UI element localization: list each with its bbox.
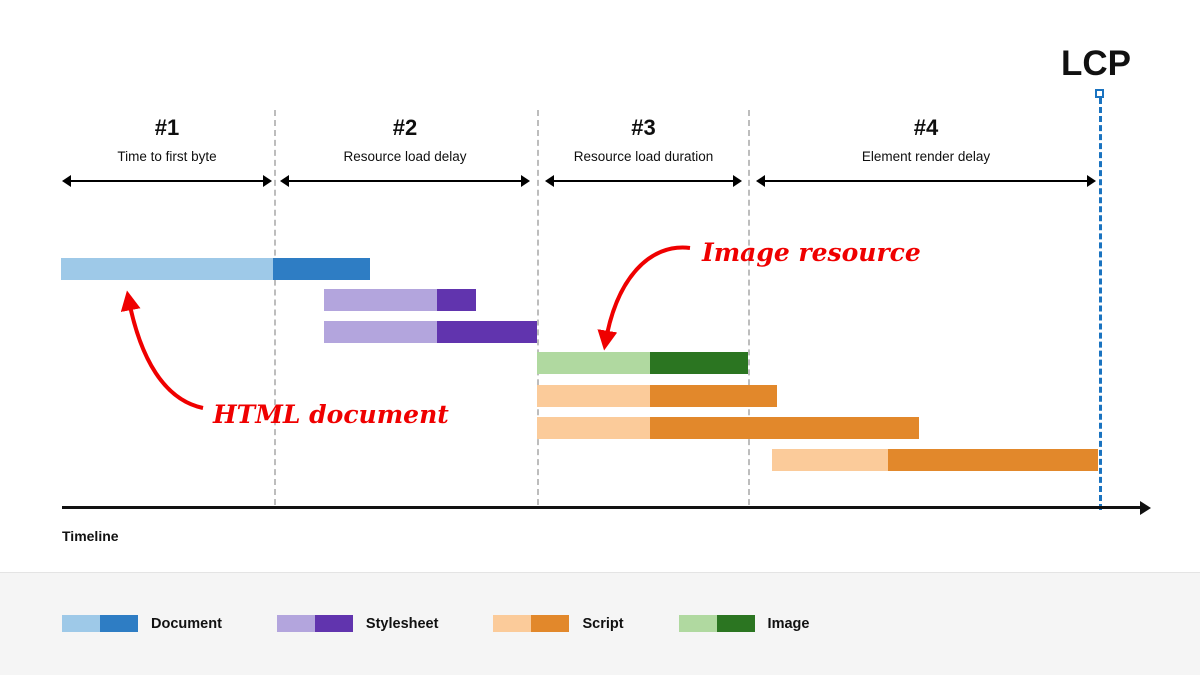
arrow-right-icon — [521, 175, 530, 187]
arrow-shaft — [762, 180, 1090, 182]
phase-number: #3 — [545, 115, 742, 141]
annotation-html-document-text: HTML document — [213, 400, 449, 429]
timeline-axis — [62, 506, 1140, 509]
script-bar-3-queue-segment — [772, 449, 888, 471]
lcp-marker-line — [1099, 98, 1102, 510]
phase-name: Time to first byte — [62, 147, 272, 167]
annotation-image-resource-text: Image resource — [702, 238, 921, 267]
legend-label: Script — [582, 616, 623, 632]
stylesheet-bar-2[interactable] — [324, 321, 537, 343]
arrow-shaft — [286, 180, 524, 182]
script-bar-3-download-segment — [888, 449, 1098, 471]
image-bar-queue-segment — [537, 352, 650, 374]
lcp-label: LCP — [1061, 44, 1131, 84]
legend-item-image[interactable]: Image — [679, 615, 810, 632]
phase-span-arrow-1 — [62, 174, 272, 188]
script-bar-1-queue-segment — [537, 385, 650, 407]
phase-name: Resource load delay — [280, 147, 530, 167]
document-bar[interactable] — [61, 258, 370, 280]
phase-number: #2 — [280, 115, 530, 141]
phase-span-arrow-2 — [280, 174, 530, 188]
script-bar-2-queue-segment — [537, 417, 650, 439]
legend-swatch-dark — [315, 615, 353, 632]
stylesheet-bar-1-queue-segment — [324, 289, 437, 311]
phase-name: Resource load duration — [545, 147, 742, 167]
phase-name: Element render delay — [756, 147, 1096, 167]
annotation-image-resource-arrow — [605, 248, 690, 345]
legend-swatch-document — [62, 615, 138, 632]
timeline-arrowhead-icon — [1140, 501, 1151, 515]
image-bar[interactable] — [537, 352, 748, 374]
phase-divider-1 — [274, 110, 276, 505]
legend-item-document[interactable]: Document — [62, 615, 222, 632]
arrow-shaft — [551, 180, 736, 182]
phase-span-arrow-3 — [545, 174, 742, 188]
timeline-label: Timeline — [62, 528, 119, 544]
arrow-right-icon — [1087, 175, 1096, 187]
legend-label: Stylesheet — [366, 616, 439, 632]
annotation-html-document-arrow — [128, 296, 203, 408]
lcp-marker-square — [1095, 89, 1104, 98]
script-bar-3[interactable] — [772, 449, 1098, 471]
document-bar-download-segment — [273, 258, 370, 280]
phase-header-3: #3Resource load duration — [545, 115, 742, 167]
legend-item-stylesheet[interactable]: Stylesheet — [277, 615, 439, 632]
script-bar-1-download-segment — [650, 385, 777, 407]
legend-swatch-light — [62, 615, 100, 632]
phase-number: #4 — [756, 115, 1096, 141]
stylesheet-bar-1-download-segment — [437, 289, 476, 311]
lcp-timeline-diagram: LCP #1Time to first byte#2Resource load … — [0, 0, 1200, 675]
arrow-right-icon — [733, 175, 742, 187]
arrow-right-icon — [263, 175, 272, 187]
legend-item-script[interactable]: Script — [493, 615, 623, 632]
phase-divider-2 — [537, 110, 539, 505]
phase-divider-3 — [748, 110, 750, 505]
legend-swatch-dark — [100, 615, 138, 632]
legend-swatch-light — [277, 615, 315, 632]
stylesheet-bar-1[interactable] — [324, 289, 476, 311]
legend-swatch-stylesheet — [277, 615, 353, 632]
legend-swatch-image — [679, 615, 755, 632]
phase-number: #1 — [62, 115, 272, 141]
phase-span-arrow-4 — [756, 174, 1096, 188]
legend-swatch-light — [493, 615, 531, 632]
legend-items: DocumentStylesheetScriptImage — [62, 615, 864, 632]
stylesheet-bar-2-download-segment — [437, 321, 537, 343]
legend-label: Document — [151, 616, 222, 632]
legend-swatch-script — [493, 615, 569, 632]
script-bar-2-download-segment — [650, 417, 919, 439]
legend-panel: DocumentStylesheetScriptImage — [0, 572, 1200, 675]
document-bar-queue-segment — [61, 258, 273, 280]
phase-header-1: #1Time to first byte — [62, 115, 272, 167]
phase-header-4: #4Element render delay — [756, 115, 1096, 167]
legend-swatch-dark — [717, 615, 755, 632]
image-bar-download-segment — [650, 352, 748, 374]
phase-header-2: #2Resource load delay — [280, 115, 530, 167]
legend-swatch-light — [679, 615, 717, 632]
script-bar-1[interactable] — [537, 385, 777, 407]
script-bar-2[interactable] — [537, 417, 919, 439]
arrow-shaft — [68, 180, 266, 182]
annotation-arrows — [0, 0, 1200, 572]
stylesheet-bar-2-queue-segment — [324, 321, 437, 343]
legend-label: Image — [768, 616, 810, 632]
legend-swatch-dark — [531, 615, 569, 632]
chart-canvas: LCP #1Time to first byte#2Resource load … — [0, 0, 1200, 572]
